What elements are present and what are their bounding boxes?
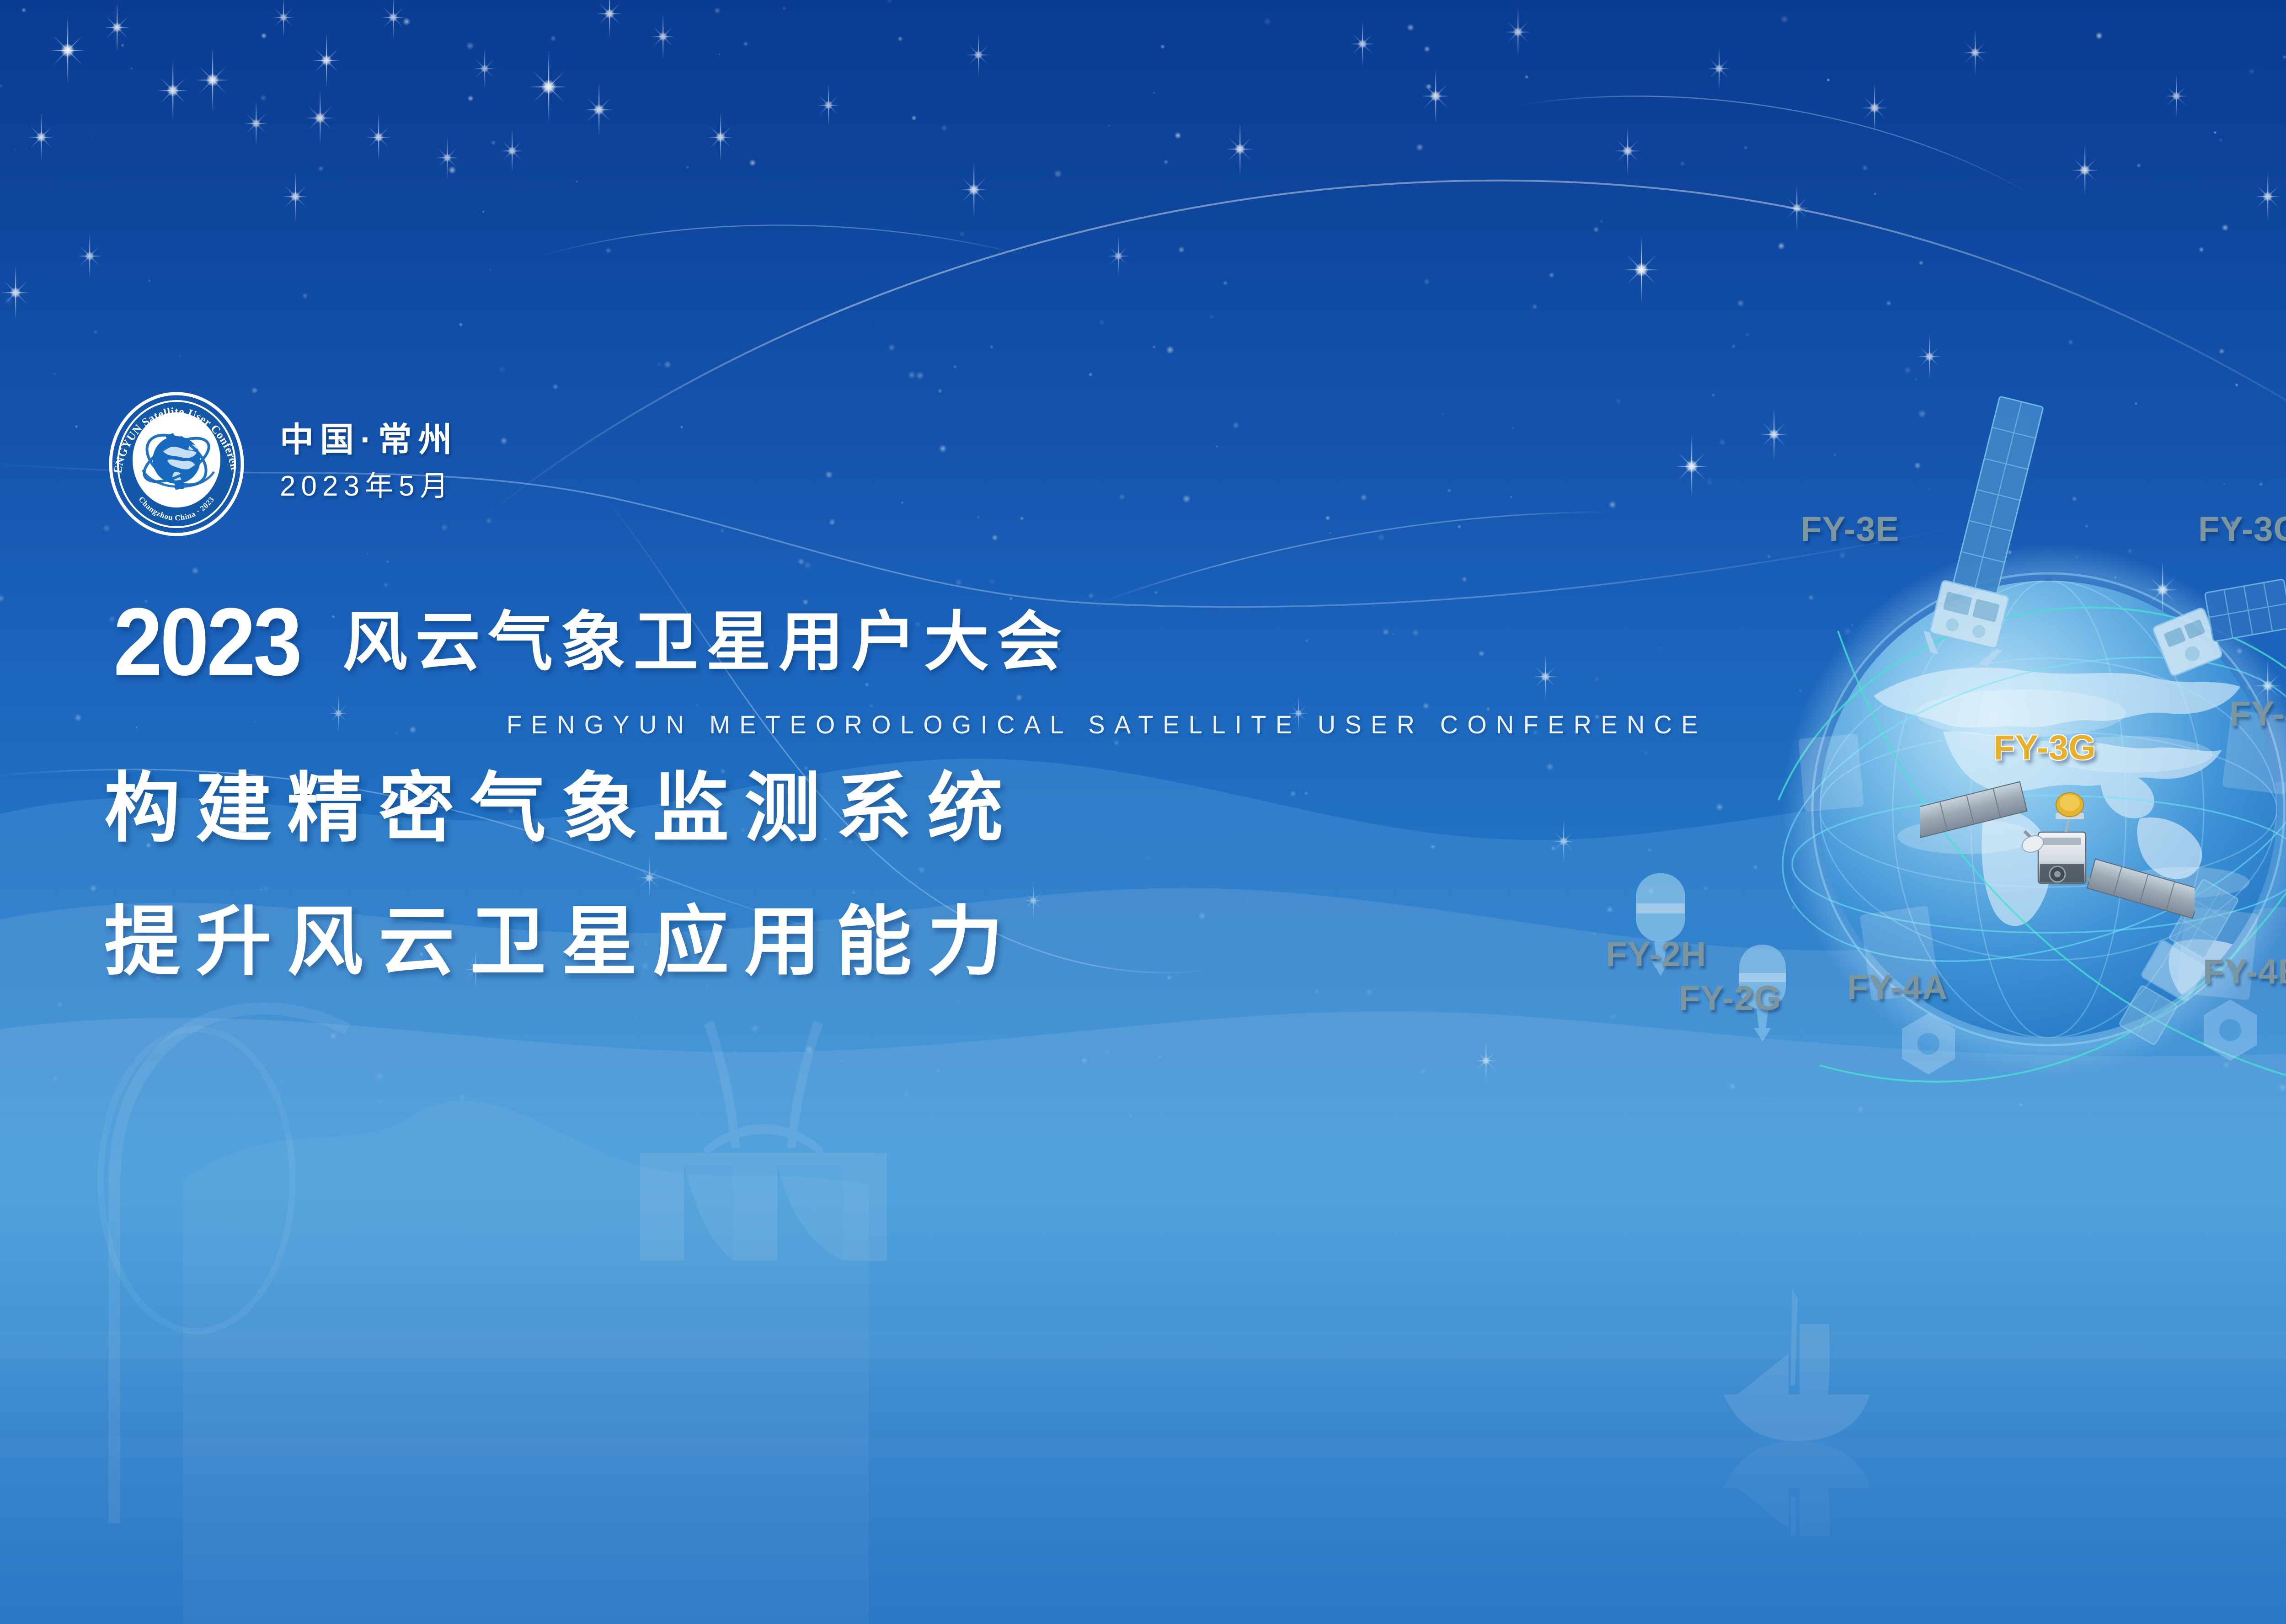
star-dot bbox=[751, 1024, 759, 1032]
star-dot bbox=[657, 362, 662, 367]
star-dot bbox=[262, 886, 270, 893]
star-dot bbox=[1447, 488, 1451, 492]
star-dot bbox=[1166, 346, 1174, 354]
satellite-label-fy-3g: FY-3G bbox=[1993, 731, 2096, 765]
star-dot bbox=[1593, 932, 1596, 935]
star-dot bbox=[852, 891, 856, 895]
star-dot bbox=[1233, 422, 1239, 429]
star-dot bbox=[2072, 496, 2077, 502]
star-dot bbox=[1525, 75, 1529, 79]
star-dot bbox=[2282, 55, 2286, 59]
star-dot bbox=[57, 1001, 63, 1007]
star-dot bbox=[1152, 345, 1156, 349]
star-dot bbox=[1099, 319, 1105, 326]
satellite-label-fy-2h: FY-2H bbox=[1606, 937, 1706, 972]
star-dot bbox=[976, 515, 980, 519]
star-dot bbox=[1209, 315, 1214, 320]
star-dot bbox=[1360, 494, 1367, 501]
star-dot bbox=[731, 1049, 738, 1056]
star-dot bbox=[1160, 44, 1165, 49]
location-city: 中国·常州 bbox=[280, 423, 459, 457]
star-dot bbox=[459, 322, 463, 327]
star-dot bbox=[74, 714, 82, 721]
star-dot bbox=[743, 42, 748, 47]
bridge-silhouette bbox=[640, 1020, 887, 1261]
star-dot bbox=[2213, 131, 2217, 134]
star-dot bbox=[1593, 227, 1599, 233]
star-dot bbox=[1407, 24, 1414, 31]
star-dot bbox=[318, 166, 324, 171]
star-dot bbox=[53, 1075, 58, 1080]
slogan-line-1: 构建精密气象监测系统 bbox=[104, 771, 1019, 847]
star-dot bbox=[1223, 281, 1228, 285]
star-dot bbox=[2249, 68, 2255, 75]
slogan-line-2: 提升风云卫星应用能力 bbox=[104, 904, 1019, 980]
star-dot bbox=[458, 1093, 466, 1101]
star-dot bbox=[1264, 18, 1271, 26]
star-dot bbox=[918, 866, 925, 873]
star-dot bbox=[2134, 402, 2137, 405]
star-dot bbox=[1647, 848, 1652, 852]
star-dot bbox=[576, 180, 578, 182]
star-dot bbox=[448, 166, 456, 174]
star-dot bbox=[825, 471, 833, 479]
star-dot bbox=[75, 425, 78, 428]
star-dot bbox=[664, 361, 672, 369]
star-dot bbox=[1549, 272, 1554, 278]
star-dot bbox=[550, 36, 556, 42]
star-dot bbox=[829, 519, 836, 526]
star-dot bbox=[1314, 989, 1319, 994]
star-dot bbox=[705, 984, 709, 988]
star-dot bbox=[1914, 378, 1917, 381]
satellite-label-fy-3c: FY-3C bbox=[2198, 512, 2286, 547]
star-dot bbox=[1422, 702, 1429, 709]
star-dot bbox=[2259, 482, 2263, 486]
star-dot bbox=[1546, 763, 1554, 771]
star-dot bbox=[1378, 534, 1385, 541]
star-dot bbox=[377, 1099, 383, 1105]
star-dot bbox=[955, 579, 962, 586]
star-dot bbox=[1745, 332, 1750, 337]
star-dot bbox=[1182, 495, 1191, 503]
star-dot bbox=[403, 18, 411, 26]
star-dot bbox=[870, 704, 874, 708]
star-dot bbox=[1246, 900, 1249, 903]
star-dot bbox=[1304, 791, 1308, 795]
star-dot bbox=[260, 95, 267, 101]
star-dot bbox=[1744, 146, 1748, 150]
star-dot bbox=[409, 726, 417, 733]
star-dot bbox=[1914, 462, 1921, 469]
star-dot bbox=[93, 330, 98, 335]
star-dot bbox=[1129, 1114, 1132, 1117]
star-dot bbox=[1113, 740, 1119, 746]
star-dot bbox=[2219, 138, 2223, 142]
star-dot bbox=[179, 355, 182, 358]
star-dot bbox=[959, 231, 965, 237]
star-dot bbox=[1778, 242, 1785, 250]
title-year: 2023 bbox=[113, 603, 300, 681]
star-dot bbox=[1606, 906, 1613, 913]
star-dot bbox=[1305, 639, 1309, 643]
star-dot bbox=[2223, 482, 2226, 485]
star-dot bbox=[1928, 487, 1931, 491]
sailboat-silhouette bbox=[1655, 1280, 1939, 1536]
star-dot bbox=[0, 595, 5, 602]
star-dot bbox=[1512, 427, 1514, 429]
conference-logo-badge: FENGYUN Satellite User Conference Changz… bbox=[108, 391, 245, 537]
star-dot bbox=[1424, 46, 1430, 52]
star-dot bbox=[1154, 591, 1158, 594]
star-dot bbox=[1147, 857, 1151, 861]
star-dot bbox=[460, 1095, 463, 1097]
star-dot bbox=[468, 96, 474, 101]
star-dot bbox=[841, 1059, 844, 1062]
star-dot bbox=[131, 68, 133, 70]
satellite-label-fy-2g: FY-2G bbox=[1679, 981, 1782, 1016]
star-dot bbox=[1430, 844, 1435, 849]
satellite-label-fy-4a: FY-4A bbox=[1847, 970, 1948, 1005]
star-dot bbox=[1737, 299, 1744, 307]
star-dot bbox=[2068, 339, 2073, 345]
star-dot bbox=[91, 135, 92, 137]
star-dot bbox=[1164, 160, 1169, 165]
star-dot bbox=[805, 1045, 813, 1053]
title-chinese: 风云气象卫星用户大会 bbox=[342, 610, 1069, 675]
star-dot bbox=[605, 247, 612, 254]
star-dot bbox=[1198, 912, 1206, 920]
star-dot bbox=[940, 124, 947, 131]
star-dot bbox=[1647, 887, 1655, 895]
star-dot bbox=[1108, 125, 1111, 127]
star-dot bbox=[1392, 633, 1394, 635]
star-dot bbox=[1716, 803, 1724, 811]
star-dot bbox=[1862, 165, 1868, 171]
star-dot bbox=[1719, 439, 1725, 445]
star-dot bbox=[686, 166, 689, 169]
star-dot bbox=[1015, 694, 1022, 701]
satellite-label-fy-4b: FY-4B bbox=[2203, 955, 2286, 989]
star-dot bbox=[719, 53, 721, 55]
star-dot bbox=[1081, 1058, 1088, 1064]
star-dot bbox=[990, 345, 994, 349]
star-dot bbox=[1441, 412, 1444, 416]
star-dot bbox=[90, 885, 97, 892]
star-dot bbox=[253, 720, 257, 724]
star-dot bbox=[897, 36, 903, 41]
star-dot bbox=[1328, 531, 1331, 534]
star-dot bbox=[2222, 224, 2228, 231]
star-dot bbox=[1918, 260, 1923, 265]
star-dot bbox=[1290, 791, 1296, 797]
star-dot bbox=[865, 682, 869, 687]
star-dot bbox=[720, 528, 725, 533]
star-dot bbox=[330, 1032, 336, 1039]
star-dot bbox=[916, 371, 924, 379]
star-dot bbox=[1426, 84, 1432, 90]
star-dot bbox=[261, 33, 267, 39]
star-dot bbox=[1611, 1013, 1618, 1020]
star-dot bbox=[482, 210, 485, 213]
star-dot bbox=[1178, 246, 1185, 253]
conference-date: 2023年5月 bbox=[280, 472, 459, 501]
star-dot bbox=[1412, 629, 1420, 637]
location-date-block: 中国·常州 2023年5月 bbox=[280, 423, 459, 501]
star-dot bbox=[486, 518, 492, 524]
star-dot bbox=[695, 703, 699, 707]
star-dot bbox=[1365, 988, 1373, 996]
star-dot bbox=[1020, 517, 1024, 521]
star-dot bbox=[116, 26, 118, 28]
star-dot bbox=[1216, 446, 1218, 448]
star-dot bbox=[1780, 15, 1789, 23]
star-dot bbox=[989, 578, 995, 585]
star-dot bbox=[908, 371, 916, 379]
star-dot bbox=[53, 373, 56, 376]
star-dot bbox=[259, 888, 262, 891]
star-dot bbox=[269, 1020, 274, 1026]
main-title: 2023 风云气象卫星用户大会 bbox=[113, 603, 1069, 681]
star-dot bbox=[466, 42, 474, 50]
star-dot bbox=[888, 344, 895, 351]
star-dot bbox=[1462, 577, 1467, 582]
star-dot bbox=[21, 8, 27, 13]
star-dot bbox=[1158, 1054, 1162, 1059]
star-dot bbox=[1640, 576, 1642, 577]
star-dot bbox=[1383, 629, 1389, 636]
star-dot bbox=[939, 445, 947, 453]
title-english: FENGYUN METEOROLOGICAL SATELLITE USER CO… bbox=[507, 710, 1707, 739]
star-dot bbox=[1594, 676, 1600, 682]
satellite-label-fy-3e: FY-3E bbox=[1800, 512, 1899, 547]
star-dot bbox=[1658, 646, 1661, 649]
star-dot bbox=[2136, 163, 2141, 168]
star-dot bbox=[1088, 593, 1094, 599]
star-dot bbox=[498, 365, 506, 373]
star-dot bbox=[992, 534, 998, 541]
star-dot bbox=[803, 561, 812, 569]
star-dot bbox=[148, 279, 151, 282]
star-dot bbox=[749, 160, 756, 166]
star-dot bbox=[782, 6, 786, 10]
star-dot bbox=[957, 1000, 961, 1004]
star-dot bbox=[552, 384, 558, 390]
star-dot bbox=[1119, 494, 1125, 500]
star-dot bbox=[440, 524, 448, 531]
star-dot bbox=[1054, 170, 1062, 178]
star-dot bbox=[1833, 453, 1837, 457]
star-dot bbox=[1510, 496, 1512, 498]
star-dot bbox=[135, 726, 138, 728]
star-dot bbox=[1009, 597, 1013, 600]
star-dot bbox=[1904, 366, 1912, 374]
star-dot bbox=[1731, 344, 1736, 348]
star-dot bbox=[1421, 1068, 1426, 1074]
satellite-label-fy-3d: FY-3D bbox=[2229, 697, 2286, 732]
star-dot bbox=[1532, 304, 1538, 310]
star-dot bbox=[0, 84, 3, 88]
star-dot bbox=[251, 387, 258, 394]
star-dot bbox=[1551, 846, 1555, 850]
star-dot bbox=[1175, 132, 1181, 139]
star-dot bbox=[1089, 373, 1093, 377]
star-dot bbox=[1703, 886, 1709, 891]
star-dot bbox=[121, 43, 124, 47]
star-dot bbox=[191, 566, 199, 575]
star-dot bbox=[383, 582, 389, 588]
star-dot bbox=[395, 731, 399, 735]
star-dot bbox=[2199, 247, 2204, 252]
star-dot bbox=[1706, 478, 1714, 486]
star-dot bbox=[2095, 32, 2103, 39]
star-dot bbox=[376, 1073, 384, 1080]
star-dot bbox=[1416, 144, 1424, 151]
star-dot bbox=[1711, 393, 1715, 397]
star-dot bbox=[1886, 300, 1891, 306]
star-dot bbox=[280, 1080, 283, 1083]
star-dot bbox=[1608, 501, 1616, 508]
star-dot bbox=[1478, 650, 1485, 657]
earth-globe bbox=[1728, 517, 2286, 1166]
conference-poster: FY-3E FY-3C FY-3D FY-3G FY-2H FY-2G FY-4… bbox=[0, 0, 2286, 1624]
star-dot bbox=[302, 293, 308, 299]
star-dot bbox=[887, 0, 892, 3]
star-dot bbox=[901, 502, 903, 504]
star-dot bbox=[386, 560, 390, 564]
star-dot bbox=[1153, 91, 1155, 94]
star-dot bbox=[1325, 516, 1330, 521]
star-dot bbox=[500, 437, 507, 444]
star-dot bbox=[635, 1015, 639, 1019]
star-dot bbox=[1644, 751, 1648, 755]
star-dot bbox=[1166, 975, 1172, 980]
star-dot bbox=[912, 116, 917, 121]
star-dot bbox=[5, 297, 13, 304]
star-dot bbox=[1827, 78, 1830, 81]
star-dot bbox=[2219, 348, 2225, 354]
star-dot bbox=[1364, 903, 1367, 905]
star-dot bbox=[2235, 383, 2238, 387]
star-dot bbox=[870, 323, 872, 325]
star-dot bbox=[903, 1091, 910, 1098]
star-dot bbox=[489, 268, 492, 271]
star-dot bbox=[1874, 192, 1877, 196]
star-dot bbox=[714, 7, 721, 14]
star-dot bbox=[491, 140, 496, 145]
star-dot bbox=[1680, 161, 1685, 166]
star-dot bbox=[14, 149, 16, 151]
star-dot bbox=[938, 389, 942, 393]
star-dot bbox=[680, 426, 683, 428]
star-dot bbox=[953, 365, 957, 369]
star-dot bbox=[1615, 398, 1622, 405]
star-dot bbox=[367, 553, 369, 555]
star-dot bbox=[936, 1068, 941, 1073]
star-dot bbox=[1600, 219, 1603, 223]
star-dot bbox=[1424, 278, 1430, 285]
star-dot bbox=[1918, 410, 1926, 418]
star-dot bbox=[1688, 1074, 1690, 1076]
star-dot bbox=[1457, 524, 1461, 529]
star-dot bbox=[797, 558, 805, 565]
star-dot bbox=[1104, 1049, 1110, 1055]
